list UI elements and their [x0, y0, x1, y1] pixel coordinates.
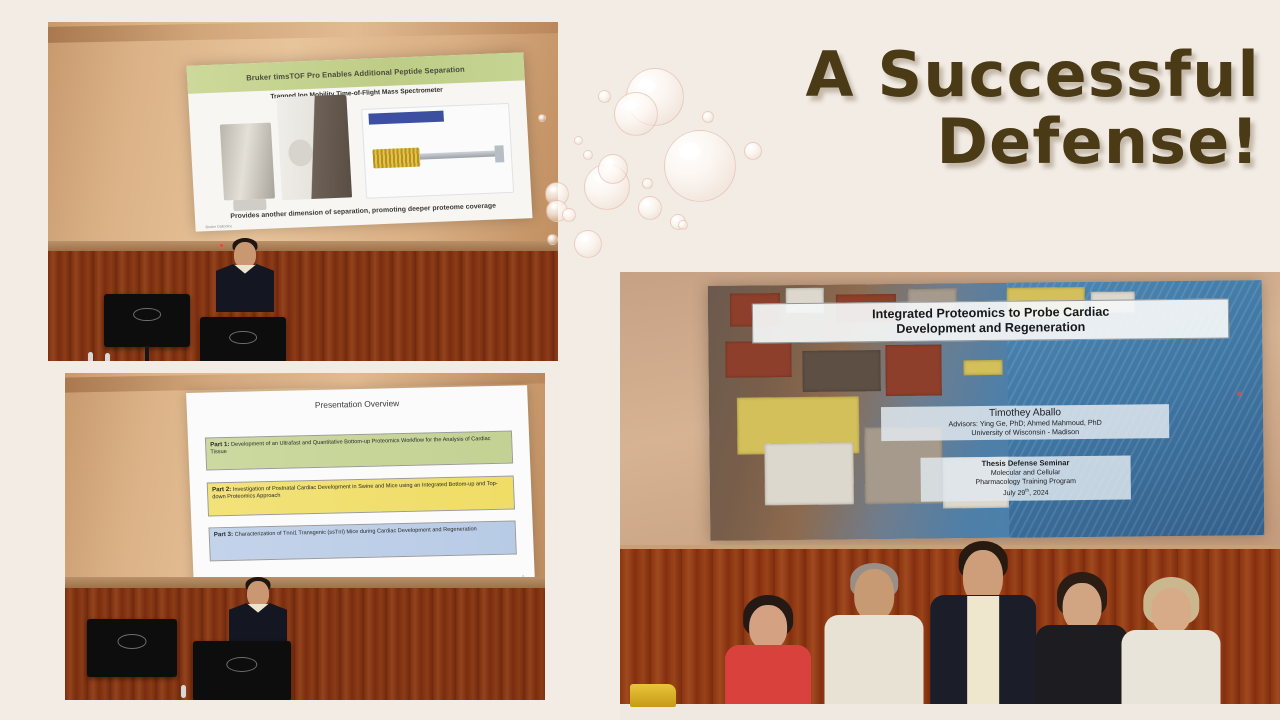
bubble-icon	[614, 92, 658, 136]
bubble-decoration	[536, 68, 776, 288]
bubble-icon	[638, 196, 662, 220]
projected-slide-overview: Presentation Overview Part 1: Developmen…	[186, 386, 535, 590]
bubble-icon	[598, 154, 628, 184]
slide-title-line-2: Development and Regeneration	[756, 319, 1227, 339]
microphone-left	[88, 352, 93, 361]
slide-credit-text: Bruker Daltonics	[205, 225, 232, 230]
mass-spectrometer-image	[276, 95, 352, 201]
building-shape	[765, 443, 854, 505]
slide-author-band: Timothey Aballo Advisors: Ying Ge, PhD; …	[881, 404, 1170, 441]
bubble-icon	[702, 111, 714, 123]
person-head	[1063, 583, 1102, 632]
bubble-icon	[642, 178, 653, 189]
podium-monitor-left	[104, 294, 190, 347]
seminar-date-day: July 29	[1003, 490, 1025, 497]
building-shape	[964, 360, 1003, 376]
microphone-right	[105, 353, 110, 361]
schematic-label-band	[368, 111, 445, 125]
flight-tube-graphic	[420, 151, 502, 160]
presentation-photo-overview: Presentation Overview Part 1: Developmen…	[65, 373, 545, 700]
overview-part-2-label: Part 2:	[212, 486, 232, 493]
overview-part-1: Part 1: Development of an Ultrafast and …	[205, 431, 513, 471]
committee-member-4	[1036, 572, 1128, 720]
microphone-left	[181, 685, 186, 698]
instrument-schematic	[361, 103, 514, 198]
overview-part-1-text: Development of an Ultrafast and Quantita…	[210, 436, 490, 456]
instrument-cart-image	[220, 123, 275, 201]
podium-monitor-left	[87, 619, 177, 677]
bubble-icon	[538, 114, 546, 122]
slide-title-band: Integrated Proteomics to Probe Cardiac D…	[752, 299, 1229, 344]
building-shape	[803, 351, 881, 393]
seminar-date-year: , 2024	[1029, 490, 1049, 497]
candidate	[930, 541, 1036, 720]
presenter-figure	[216, 242, 274, 312]
laser-pointer-dot	[220, 244, 223, 247]
yellow-object	[630, 684, 676, 706]
person-dress-shirt	[967, 596, 999, 720]
table-edge	[620, 704, 1280, 720]
building-shape	[886, 345, 942, 397]
overview-part-2-text: Investigation of Postnatal Cardiac Devel…	[212, 481, 498, 501]
overview-part-2: Part 2: Investigation of Postnatal Cardi…	[207, 476, 515, 516]
slide-seminar-band: Thesis Defense Seminar Molecular and Cel…	[920, 455, 1131, 501]
person-head	[854, 569, 894, 621]
podium-monitor-right	[200, 317, 286, 361]
bubble-icon	[562, 208, 576, 222]
slide-header-text: Bruker timsTOF Pro Enables Additional Pe…	[246, 65, 465, 83]
overview-part-3-text: Characterization of Tnni1 Transgenic (ss…	[233, 527, 477, 539]
institution-line: University of Wisconsin - Madison	[883, 426, 1167, 438]
presentation-photo-timstof: Bruker timsTOF Pro Enables Additional Pe…	[48, 22, 558, 361]
seminar-date: July 29th, 2024	[923, 487, 1130, 500]
bubble-icon	[598, 90, 611, 103]
overview-part-1-label: Part 1:	[210, 441, 230, 448]
tims-tunnel-graphic	[373, 148, 421, 169]
bubble-icon	[678, 220, 688, 230]
defense-group-photo: Integrated Proteomics to Probe Cardiac D…	[620, 272, 1280, 720]
overview-part-3: Part 3: Characterization of Tnni1 Transg…	[208, 521, 516, 561]
overview-slide-title: Presentation Overview	[186, 395, 527, 413]
ceiling-strip	[48, 22, 558, 43]
person-head	[750, 605, 788, 650]
podium-monitor-right	[193, 641, 291, 700]
bubble-icon	[664, 130, 736, 202]
overview-part-3-label: Part 3:	[213, 531, 233, 538]
bubble-icon	[547, 234, 558, 245]
bubble-icon	[574, 230, 602, 258]
bubble-icon	[574, 136, 583, 145]
monitor-stand-left	[145, 346, 149, 361]
person-head	[1151, 588, 1191, 634]
bubble-icon	[744, 142, 762, 160]
committee-member-1	[726, 595, 812, 720]
projected-slide-timstof: Bruker timsTOF Pro Enables Additional Pe…	[186, 53, 532, 232]
bubble-icon	[583, 150, 593, 160]
building-shape	[725, 341, 792, 377]
committee-member-2	[825, 563, 924, 720]
committee-member-5	[1122, 577, 1221, 720]
projected-title-slide: Integrated Proteomics to Probe Cardiac D…	[708, 280, 1265, 541]
